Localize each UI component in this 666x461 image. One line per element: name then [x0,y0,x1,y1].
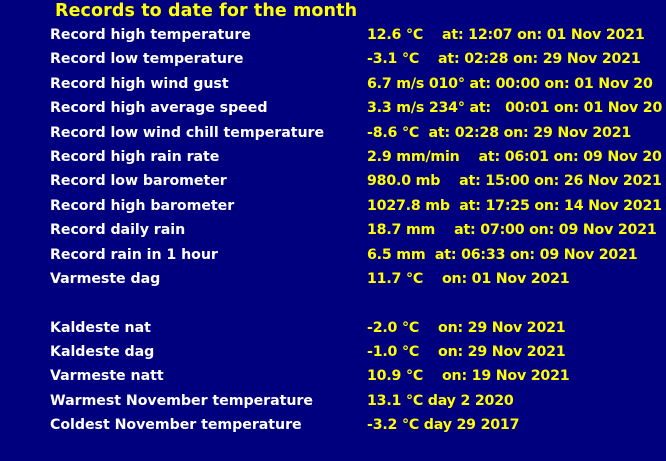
record-row: Kaldeste nat-2.0 °C on: 29 Nov 2021 [0,316,666,340]
record-row: Record low temperature-3.1 °C at: 02:28 … [0,47,666,71]
record-value: -3.2 °C day 29 2017 [367,413,519,437]
record-label: Record high temperature [50,23,251,47]
record-row: Record daily rain18.7 mm at: 07:00 on: 0… [0,218,666,242]
record-value: 10.9 °C on: 19 Nov 2021 [367,364,569,388]
record-value: -2.0 °C on: 29 Nov 2021 [367,316,565,340]
record-row: Record rain in 1 hour6.5 mm at: 06:33 on… [0,243,666,267]
record-value: 12.6 °C at: 12:07 on: 01 Nov 2021 [367,23,645,47]
page-title: Records to date for the month [55,1,357,22]
record-value: 980.0 mb at: 15:00 on: 26 Nov 2021 [367,169,662,193]
record-value: 3.3 m/s 234° at: 00:01 on: 01 Nov 20 [367,96,662,120]
record-row-spacer [0,291,666,315]
record-row: Record high rain rate2.9 mm/min at: 06:0… [0,145,666,169]
record-label: Kaldeste dag [50,340,154,364]
record-row: Record high barometer1027.8 mb at: 17:25… [0,194,666,218]
record-row: Record high wind gust6.7 m/s 010° at: 00… [0,72,666,96]
record-row: Record high average speed3.3 m/s 234° at… [0,96,666,120]
record-value: 13.1 °C day 2 2020 [367,389,514,413]
record-row: Varmeste dag11.7 °C on: 01 Nov 2021 [0,267,666,291]
record-label: Varmeste dag [50,267,160,291]
record-label: Record rain in 1 hour [50,243,218,267]
record-label: Record high wind gust [50,72,229,96]
record-label: Coldest November temperature [50,413,302,437]
record-value: 2.9 mm/min at: 06:01 on: 09 Nov 20 [367,145,662,169]
record-value: 6.7 m/s 010° at: 00:00 on: 01 Nov 20 [367,72,653,96]
weather-records-panel: Records to date for the month Record hig… [0,0,666,461]
record-label: Kaldeste nat [50,316,151,340]
record-value: -3.1 °C at: 02:28 on: 29 Nov 2021 [367,47,641,71]
record-row: Kaldeste dag-1.0 °C on: 29 Nov 2021 [0,340,666,364]
record-label: Record low temperature [50,47,243,71]
record-value: 11.7 °C on: 01 Nov 2021 [367,267,569,291]
records-list: Record high temperature12.6 °C at: 12:07… [0,23,666,438]
record-value: 1027.8 mb at: 17:25 on: 14 Nov 2021 [367,194,662,218]
record-value: -8.6 °C at: 02:28 on: 29 Nov 2021 [367,121,631,145]
record-row: Record low barometer980.0 mb at: 15:00 o… [0,169,666,193]
record-label: Record high barometer [50,194,234,218]
record-label: Record daily rain [50,218,185,242]
record-row: Varmeste natt10.9 °C on: 19 Nov 2021 [0,364,666,388]
record-label: Warmest November temperature [50,389,313,413]
record-value: 6.5 mm at: 06:33 on: 09 Nov 2021 [367,243,637,267]
record-label: Record low wind chill temperature [50,121,324,145]
record-label: Record high average speed [50,96,267,120]
record-label: Varmeste natt [50,364,164,388]
record-label: Record low barometer [50,169,227,193]
record-row: Coldest November temperature-3.2 °C day … [0,413,666,437]
record-value: -1.0 °C on: 29 Nov 2021 [367,340,565,364]
record-row: Warmest November temperature13.1 °C day … [0,389,666,413]
record-label: Record high rain rate [50,145,219,169]
record-value: 18.7 mm at: 07:00 on: 09 Nov 2021 [367,218,657,242]
record-row: Record high temperature12.6 °C at: 12:07… [0,23,666,47]
record-row: Record low wind chill temperature-8.6 °C… [0,121,666,145]
